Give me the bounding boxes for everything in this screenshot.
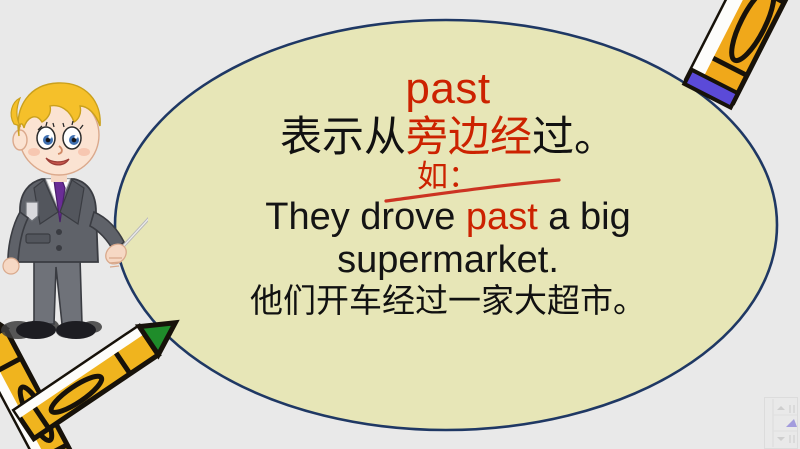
example-chinese: 他们开车经过一家大超市。 [150,284,746,319]
lesson-text-block: past 表示从旁边经过。 如： They drove past a big s… [150,66,746,319]
example-en-highlight: past [466,196,538,238]
example-english-line1: They drove past a big [150,196,746,239]
example-marker: 如： [150,161,746,194]
example-en-part2: a big [538,196,631,238]
headword: past [150,66,746,113]
trousers [34,258,82,324]
definition-prefix: 表示从 [280,112,406,161]
definition-highlight: 旁边经 [406,112,532,161]
shoe-left [16,321,56,339]
cartoon-schoolboy-illustration [0,62,148,362]
example-english-line2: supermarket. [150,239,746,282]
scroll-navigation-control[interactable] [764,397,798,449]
shoe-right [56,321,96,339]
hand-left [3,258,19,274]
example-en-part1: They drove [265,196,466,238]
definition-suffix: 过。 [532,112,616,161]
slide-canvas: past 表示从旁边经过。 如： They drove past a big s… [0,0,800,449]
definition-line: 表示从旁边经过。 [150,115,746,160]
